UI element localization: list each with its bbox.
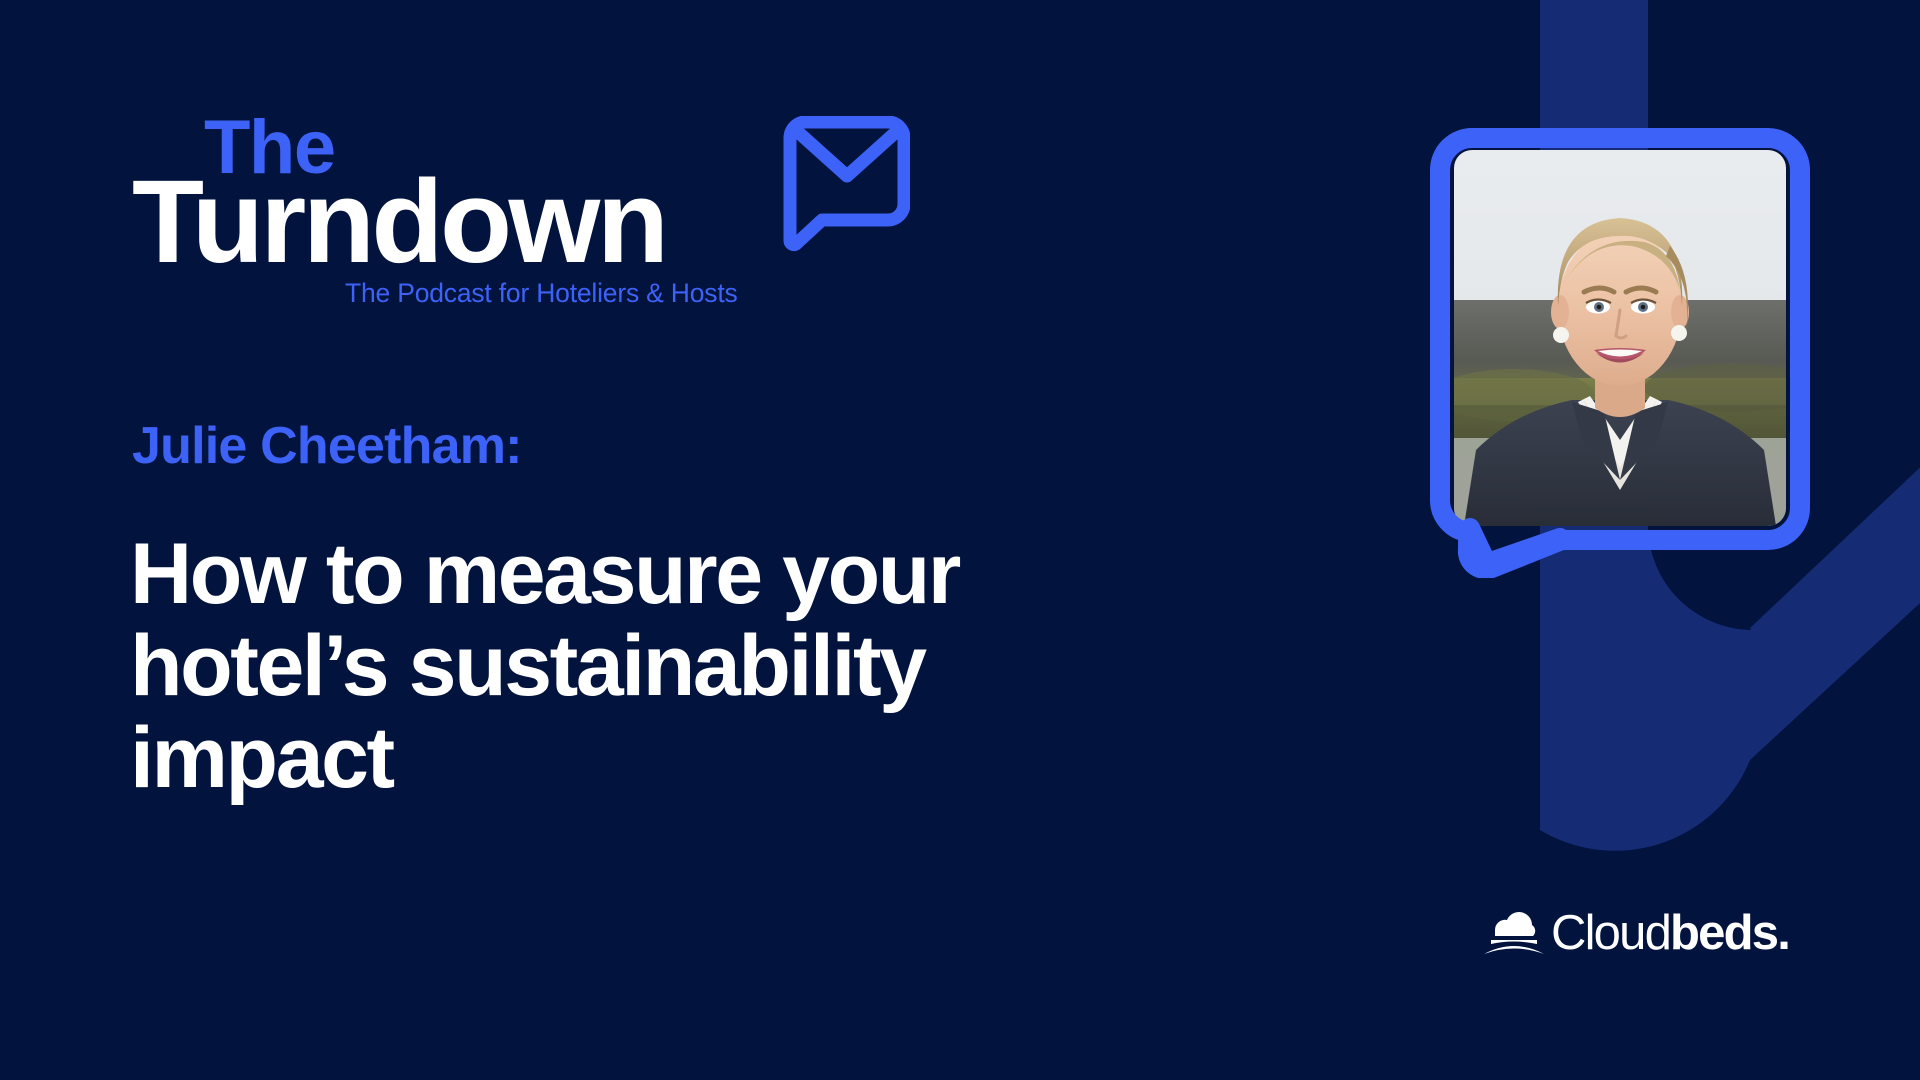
cloudbeds-logo: Cloudbeds. — [1483, 902, 1803, 964]
cloudbeds-name-bold: beds — [1670, 910, 1777, 956]
episode-title: How to measure your hotel’s sustainabili… — [130, 528, 1250, 804]
podcast-logo: The Turndown The Podcast for Hoteliers &… — [132, 118, 912, 308]
logo-name-word: Turndown — [132, 163, 665, 281]
envelope-speech-bubble-icon — [782, 116, 910, 252]
speaker-portrait — [1430, 128, 1810, 578]
cloudbeds-wordmark: Cloudbeds. — [1551, 910, 1789, 956]
cloudbeds-bed-icon — [1483, 910, 1545, 956]
cloudbeds-name-light: Cloud — [1551, 910, 1670, 956]
episode-title-line-3: impact — [130, 712, 1250, 804]
episode-title-line-1: How to measure your — [130, 528, 1250, 620]
podcast-episode-cover: The Turndown The Podcast for Hoteliers &… — [0, 0, 1920, 1080]
cloudbeds-name-dot: . — [1777, 910, 1789, 956]
speaker-name: Julie Cheetham: — [132, 420, 522, 472]
speech-bubble-frame-icon — [1430, 128, 1810, 578]
episode-title-line-2: hotel’s sustainability — [130, 620, 1250, 712]
logo-tagline: The Podcast for Hoteliers & Hosts — [345, 280, 738, 307]
